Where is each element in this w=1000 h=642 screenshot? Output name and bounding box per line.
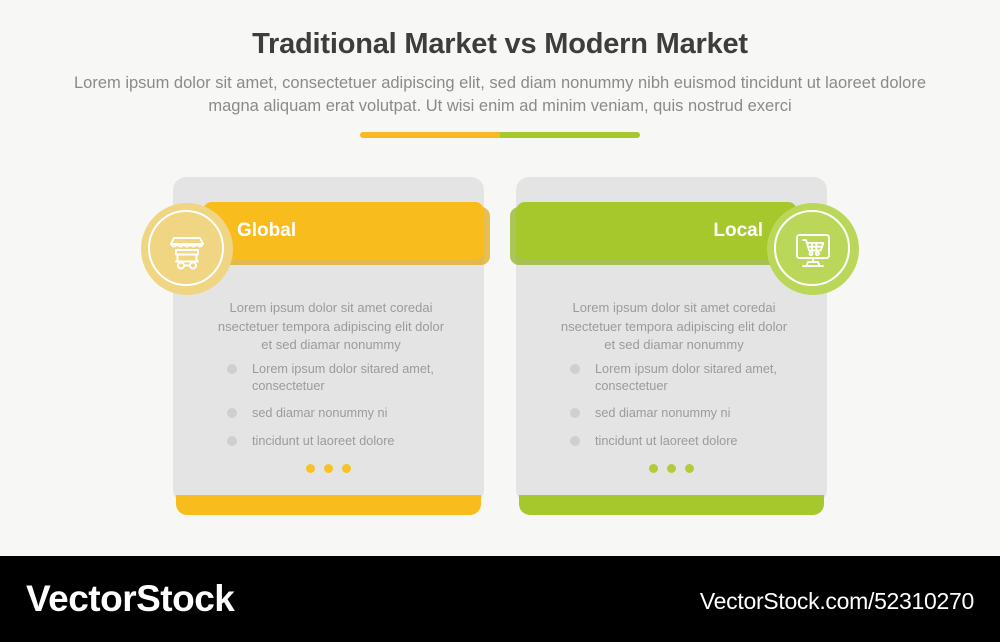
page-subtitle: Lorem ipsum dolor sit amet, consectetuer… [60,72,940,118]
bullet-icon [570,408,580,418]
card-traditional-market[interactable]: Global [173,177,484,522]
card-dot-indicator [516,464,827,473]
card-header-label: Global [237,220,296,242]
bullet-icon [570,436,580,446]
page-title: Traditional Market vs Modern Market [12,28,988,61]
list-item-label: tincidunt ut laoreet dolore [252,434,394,448]
card-badge [141,203,233,295]
dot-icon [685,464,694,473]
online-shopping-monitor-icon [790,226,836,272]
list-item: tincidunt ut laoreet dolore [570,433,800,450]
vectorstock-url: VectorStock.com/52310270 [700,588,974,615]
title-divider [360,132,640,138]
card-header-label: Local [713,220,763,242]
list-item: Lorem ipsum dolor sitared amet, consecte… [570,361,800,394]
bullet-icon [570,364,580,374]
dot-icon [649,464,658,473]
divider-segment-right [500,132,640,138]
watermark-footer: VectorStock VectorStock.com/52310270 [0,556,1000,642]
card-bottom-bar [176,495,481,515]
list-item: tincidunt ut laoreet dolore [227,433,457,450]
card-feature-list: Lorem ipsum dolor sitared amet, consecte… [227,361,457,460]
market-stall-icon [164,226,210,272]
dot-icon [306,464,315,473]
card-modern-market[interactable]: Local [516,177,827,522]
bullet-icon [227,408,237,418]
card-paragraph: Lorem ipsum dolor sit amet coredai nsect… [215,299,447,355]
list-item-label: sed diamar nonummy ni [252,406,387,420]
list-item: sed diamar nonummy ni [227,405,457,422]
card-dot-indicator [173,464,484,473]
card-header-pill[interactable]: Local [516,202,797,260]
card-header-pill[interactable]: Global [203,202,484,260]
list-item: sed diamar nonummy ni [570,405,800,422]
bullet-icon [227,436,237,446]
list-item-label: Lorem ipsum dolor sitared amet, consecte… [252,362,434,393]
list-item: Lorem ipsum dolor sitared amet, consecte… [227,361,457,394]
card-paragraph: Lorem ipsum dolor sit amet coredai nsect… [558,299,790,355]
divider-segment-left [360,132,500,138]
list-item-label: tincidunt ut laoreet dolore [595,434,737,448]
dot-icon [324,464,333,473]
card-feature-list: Lorem ipsum dolor sitared amet, consecte… [570,361,800,460]
list-item-label: sed diamar nonummy ni [595,406,730,420]
card-badge [767,203,859,295]
dot-icon [342,464,351,473]
vectorstock-logo: VectorStock [26,578,234,620]
list-item-label: Lorem ipsum dolor sitared amet, consecte… [595,362,777,393]
dot-icon [667,464,676,473]
card-bottom-bar [519,495,824,515]
slide-content-area: Traditional Market vs Modern Market Lore… [12,10,988,546]
slide-background: Traditional Market vs Modern Market Lore… [0,0,1000,556]
slide-canvas: Traditional Market vs Modern Market Lore… [0,0,1000,642]
bullet-icon [227,364,237,374]
